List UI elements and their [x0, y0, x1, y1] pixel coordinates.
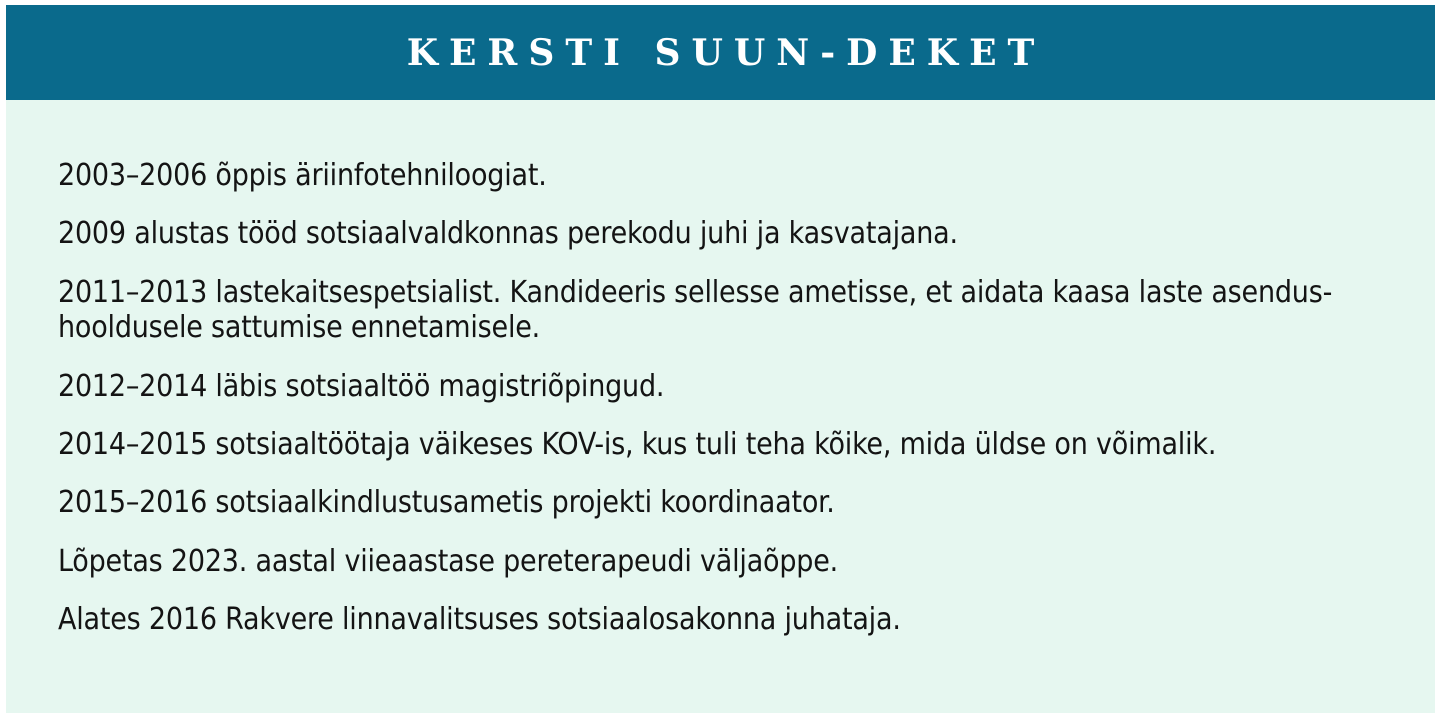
- person-info-box: KERSTI SUUN-DEKET 2003–2006 õppis äriinf…: [6, 5, 1435, 713]
- list-item: 2003–2006 õppis äriinfotehniloogiat.: [58, 158, 1395, 193]
- list-item: 2012–2014 läbis sotsiaaltöö magistriõpin…: [58, 369, 1395, 404]
- info-box-header-bar: KERSTI SUUN-DEKET: [6, 5, 1435, 100]
- biography-list: 2003–2006 õppis äriinfotehniloogiat. 200…: [58, 158, 1395, 638]
- biography-section: 2003–2006 õppis äriinfotehniloogiat. 200…: [6, 100, 1435, 713]
- list-item: 2009 alustas tööd sotsiaalvaldkonnas per…: [58, 216, 1395, 251]
- list-item: 2011–2013 lastekaitsespetsialist. Kandid…: [58, 275, 1395, 346]
- list-item: 2015–2016 sotsiaalkindlustusametis proje…: [58, 485, 1395, 520]
- list-item: Alates 2016 Rakvere linnavalitsuses sots…: [58, 602, 1395, 637]
- person-name-title: KERSTI SUUN-DEKET: [396, 35, 1046, 71]
- list-item: 2014–2015 sotsiaaltöötaja väikeses KOV-i…: [58, 427, 1395, 462]
- list-item: Lõpetas 2023. aastal viieaastase pereter…: [58, 544, 1395, 579]
